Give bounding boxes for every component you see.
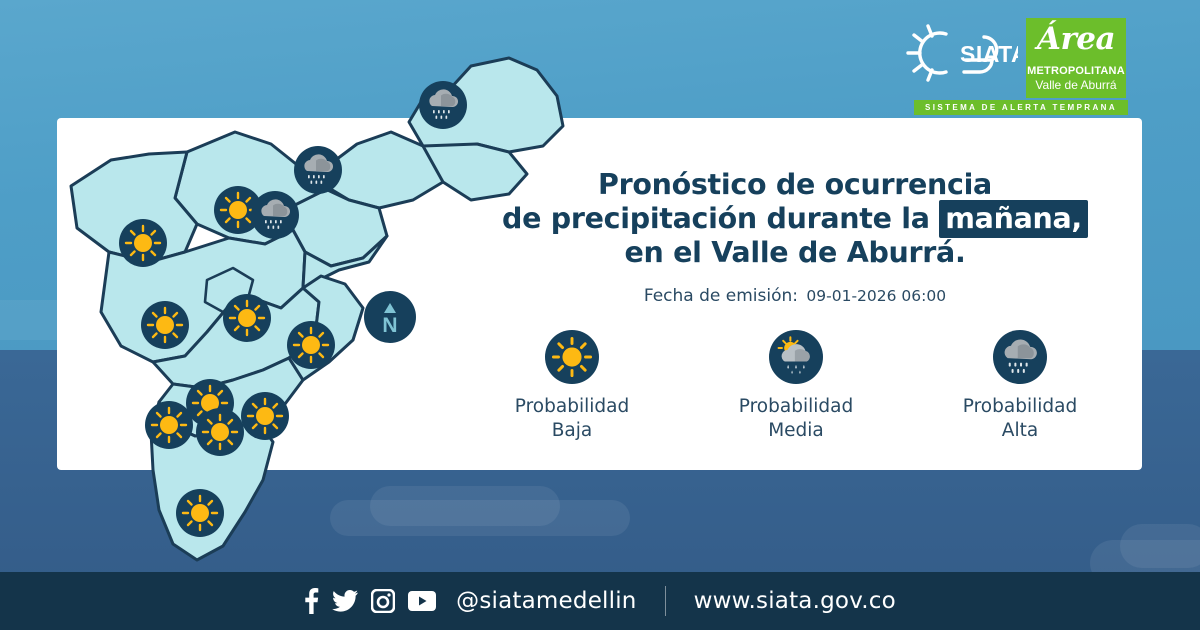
area-metropolitana-logo: Área METROPOLITANA Valle de Aburrá xyxy=(1026,18,1126,98)
legend-label-high: Probabilidad Alta xyxy=(963,395,1077,443)
footer-bar: @siatamedellin www.siata.gov.co xyxy=(0,572,1200,630)
legend-icon-wrap-high xyxy=(993,330,1047,384)
sun-cloud-rain-icon xyxy=(769,330,823,384)
sun-icon xyxy=(141,301,189,349)
map-marker-rain[interactable] xyxy=(294,146,342,194)
tagline-banner: SISTEMA DE ALERTA TEMPRANA xyxy=(914,100,1128,115)
area-script-text: Área xyxy=(1026,21,1126,57)
legend-label-low: Probabilidad Baja xyxy=(515,395,629,443)
website-link[interactable]: www.siata.gov.co xyxy=(694,588,896,614)
legend-label-low-line1: Probabilidad xyxy=(515,395,629,419)
issue-date: Fecha de emisión: 09-01-2026 06:00 xyxy=(448,286,1142,306)
cloud-rain-icon xyxy=(251,191,299,239)
cloud-rain-icon xyxy=(294,146,342,194)
page-title: Pronóstico de ocurrencia de precipitació… xyxy=(448,168,1142,270)
legend-icon-wrap-low xyxy=(545,330,599,384)
map-marker-sun[interactable] xyxy=(119,219,167,267)
title-highlight-mañana: mañana, xyxy=(939,200,1088,238)
instagram-icon[interactable] xyxy=(371,589,395,613)
legend-label-medium-line2: Media xyxy=(739,419,853,443)
social-handle[interactable]: @siatamedellin xyxy=(456,588,636,614)
map-marker-sun[interactable] xyxy=(176,489,224,537)
footer-divider xyxy=(665,586,666,616)
sun-icon xyxy=(119,219,167,267)
sun-icon xyxy=(223,294,271,342)
map-marker-rain[interactable] xyxy=(419,81,467,129)
title-line-2-text: de precipitación durante la xyxy=(502,202,930,235)
map-marker-sun[interactable] xyxy=(145,401,193,449)
map-marker-sun[interactable] xyxy=(223,294,271,342)
map-vector xyxy=(57,40,577,580)
compass-north-icon: N xyxy=(364,291,416,343)
siata-logo: SIATA xyxy=(900,22,1018,89)
legend-item-media[interactable]: Probabilidad Media xyxy=(701,330,891,443)
twitter-icon[interactable] xyxy=(332,590,358,612)
compass-label: N xyxy=(382,314,397,337)
cloud-rain-icon xyxy=(993,330,1047,384)
sun-icon xyxy=(176,489,224,537)
map-marker-sun[interactable] xyxy=(141,301,189,349)
infographic-canvas: SIATA Área METROPOLITANA Valle de Aburrá… xyxy=(0,0,1200,630)
logo-group: SIATA Área METROPOLITANA Valle de Aburrá… xyxy=(900,18,1128,108)
map-marker-sun[interactable] xyxy=(196,408,244,456)
title-line-1: Pronóstico de ocurrencia xyxy=(448,168,1142,202)
sun-cloud-logo-icon: SIATA xyxy=(900,22,1018,84)
legend-label-high-line1: Probabilidad xyxy=(963,395,1077,419)
social-links xyxy=(304,588,436,614)
probability-legend: Probabilidad Baja xyxy=(460,330,1132,443)
map-marker-rain[interactable] xyxy=(251,191,299,239)
youtube-icon[interactable] xyxy=(408,591,436,611)
title-line-3: en el Valle de Aburrá. xyxy=(448,236,1142,270)
facebook-icon[interactable] xyxy=(304,588,319,614)
legend-label-low-line2: Baja xyxy=(515,419,629,443)
issue-date-value: 09-01-2026 06:00 xyxy=(806,287,946,305)
legend-icon-wrap-medium xyxy=(769,330,823,384)
title-line-2: de precipitación durante la mañana, xyxy=(448,202,1142,236)
map-marker-sun[interactable] xyxy=(241,392,289,440)
sun-icon xyxy=(287,321,335,369)
legend-label-medium-line1: Probabilidad xyxy=(739,395,853,419)
cloud-rain-icon xyxy=(419,81,467,129)
sun-icon xyxy=(545,330,599,384)
sun-icon xyxy=(196,408,244,456)
siata-wordmark: SIATA xyxy=(960,41,1018,67)
footer-content: @siatamedellin www.siata.gov.co xyxy=(304,586,896,616)
valle-de-aburra-map: N xyxy=(57,40,577,580)
sun-icon xyxy=(241,392,289,440)
issue-date-label: Fecha de emisión: xyxy=(644,286,798,306)
legend-label-medium: Probabilidad Media xyxy=(739,395,853,443)
decorative-cloud xyxy=(1120,524,1200,568)
map-marker-sun[interactable] xyxy=(287,321,335,369)
compass-rose: N xyxy=(364,291,416,343)
legend-item-baja[interactable]: Probabilidad Baja xyxy=(477,330,667,443)
area-line1: METROPOLITANA xyxy=(1026,65,1126,77)
area-line2: Valle de Aburrá xyxy=(1026,78,1126,92)
legend-item-alta[interactable]: Probabilidad Alta xyxy=(925,330,1115,443)
tagline-text: SISTEMA DE ALERTA TEMPRANA xyxy=(925,103,1117,112)
sun-icon xyxy=(145,401,193,449)
legend-label-high-line2: Alta xyxy=(963,419,1077,443)
